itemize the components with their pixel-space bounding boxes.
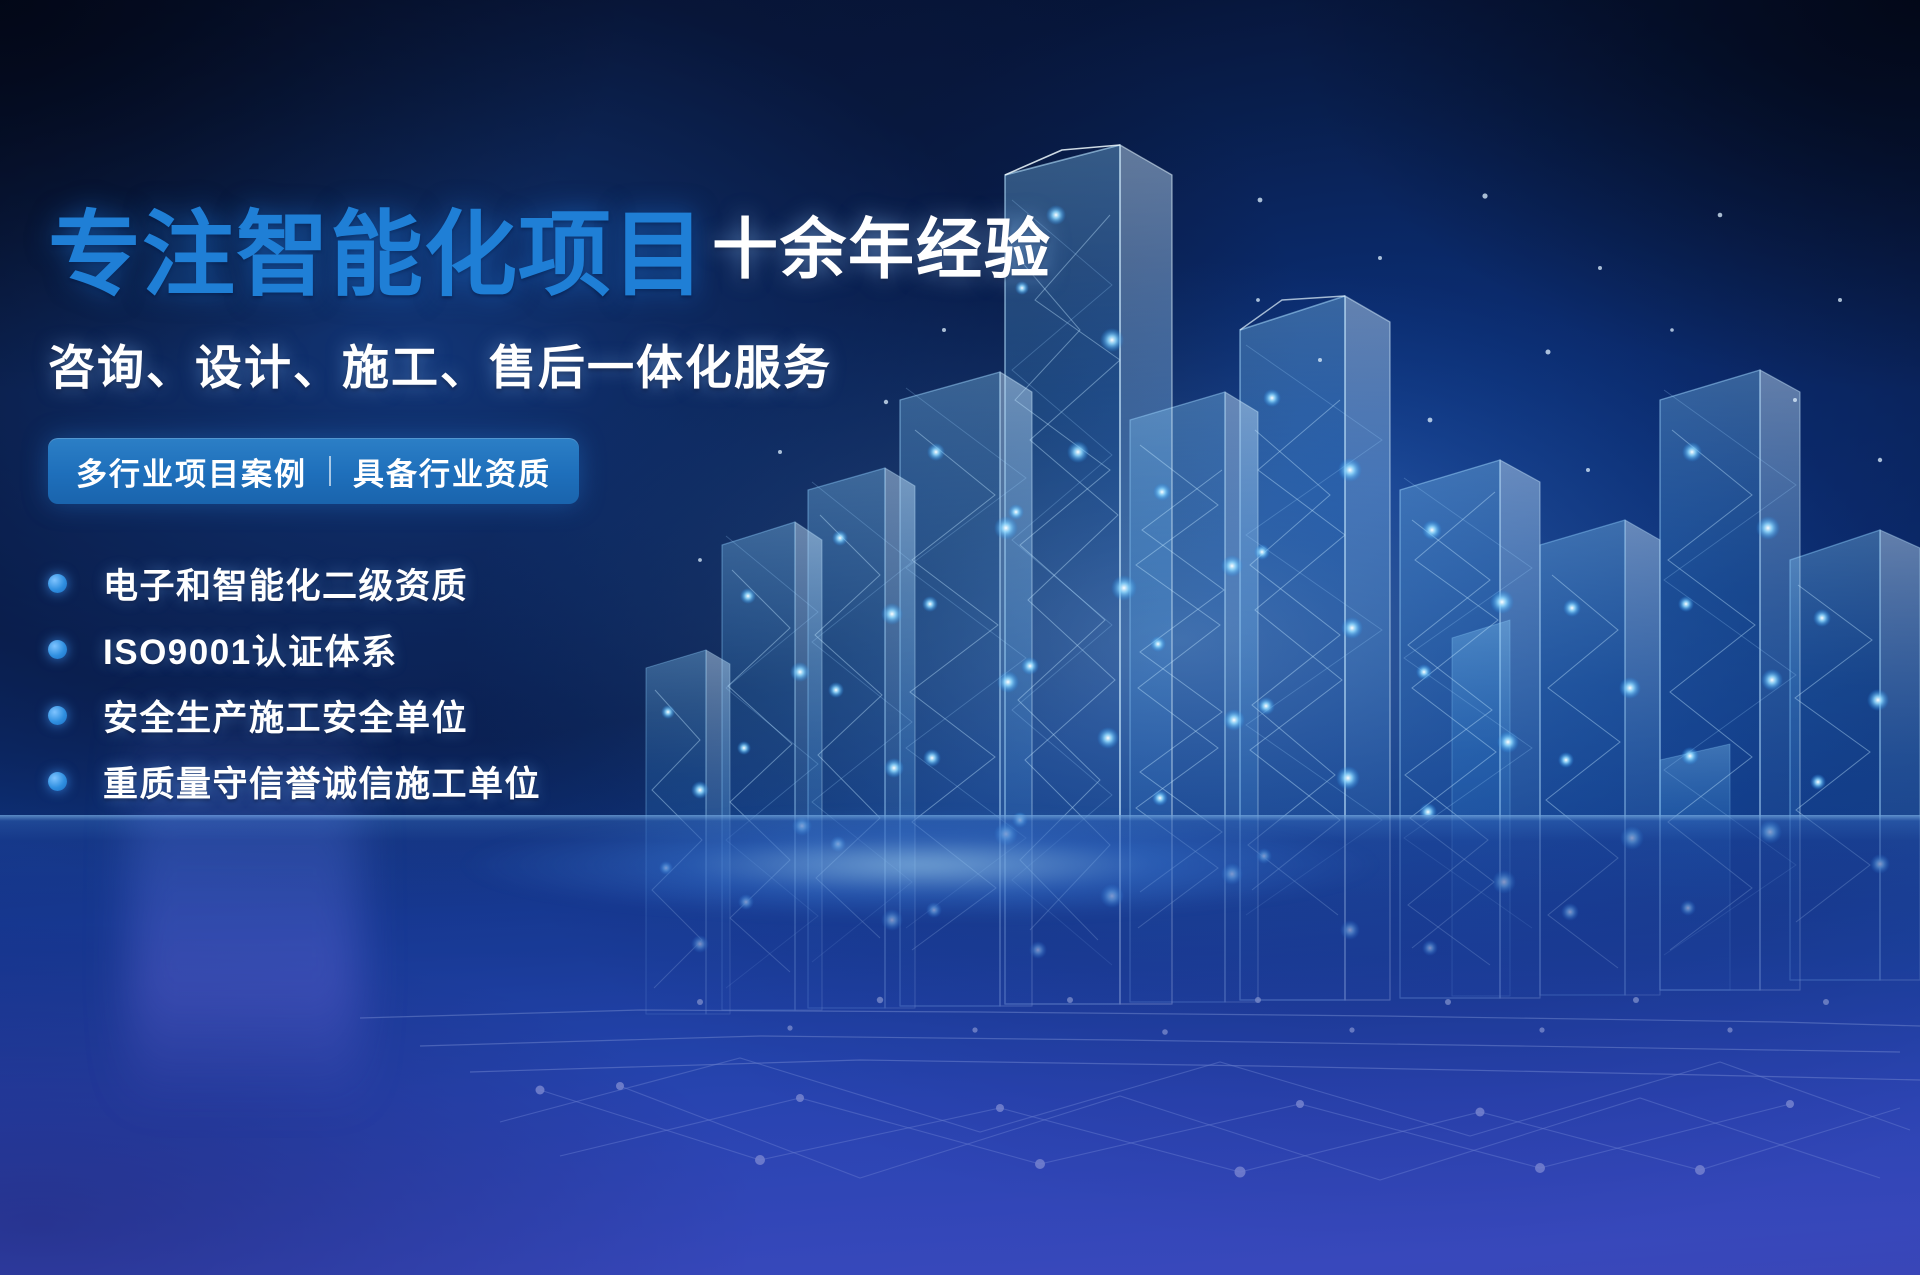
- bullet-dot-icon: [48, 640, 67, 659]
- headline-main-text: 专注智能化项目: [48, 207, 706, 305]
- pill-left-label: 多行业项目案例: [76, 449, 307, 494]
- bullet-dot-icon: [48, 772, 67, 791]
- bullet-dot-icon: [48, 574, 67, 593]
- list-item: ISO9001认证体系: [48, 616, 1048, 682]
- qualification-pill: 多行业项目案例 具备行业资质: [48, 438, 579, 504]
- list-item: 电子和智能化二级资质: [48, 550, 1048, 616]
- subtitle-text: 咨询、设计、施工、售后一体化服务: [48, 329, 1048, 398]
- headline-sub-text: 十余年经验: [712, 200, 1052, 305]
- bullet-dot-icon: [48, 706, 67, 725]
- pill-divider: [329, 456, 331, 486]
- feature-list: 电子和智能化二级资质 ISO9001认证体系 安全生产施工安全单位 重质量守信誉…: [48, 550, 1048, 814]
- hero-banner: 专注智能化项目 十余年经验 咨询、设计、施工、售后一体化服务 多行业项目案例 具…: [0, 0, 1920, 1275]
- feature-label: 安全生产施工安全单位: [103, 690, 468, 741]
- pill-right-label: 具备行业资质: [353, 449, 551, 494]
- feature-label: 重质量守信誉诚信施工单位: [103, 756, 541, 807]
- list-item: 重质量守信誉诚信施工单位: [48, 748, 1048, 814]
- headline: 专注智能化项目 十余年经验: [48, 200, 1048, 305]
- list-item: 安全生产施工安全单位: [48, 682, 1048, 748]
- feature-label: 电子和智能化二级资质: [103, 558, 468, 609]
- banner-copy: 专注智能化项目 十余年经验 咨询、设计、施工、售后一体化服务 多行业项目案例 具…: [48, 200, 1048, 814]
- feature-label: ISO9001认证体系: [103, 624, 398, 675]
